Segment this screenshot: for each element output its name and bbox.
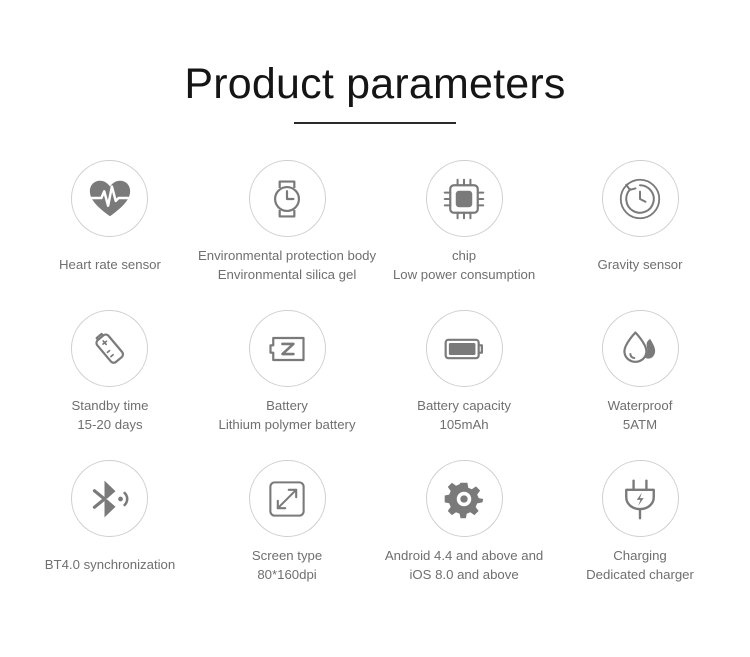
- feature-caption: Environmental protection body Environmen…: [198, 247, 376, 284]
- icon-circle: [426, 310, 503, 387]
- title-underline-rule: [294, 122, 456, 124]
- caption-line-1: chip: [452, 248, 476, 263]
- caption-line-2: Environmental silica gel: [198, 266, 376, 285]
- battery-z-icon: [265, 327, 309, 371]
- caption-line-1: Heart rate sensor: [59, 257, 161, 272]
- icon-circle: [71, 310, 148, 387]
- icon-circle: [249, 460, 326, 537]
- heart-rate-icon: [87, 176, 133, 222]
- caption-line-2: iOS 8.0 and above: [385, 566, 543, 585]
- feature-caption: chip Low power consumption: [393, 247, 535, 284]
- title-block: Product parameters: [0, 0, 750, 124]
- page-title: Product parameters: [0, 62, 750, 107]
- icon-circle: [426, 160, 503, 237]
- icon-circle: [71, 160, 148, 237]
- screen-resize-icon: [266, 478, 308, 520]
- feature-caption: Battery capacity 105mAh: [417, 397, 511, 434]
- charging-plug-icon: [618, 477, 662, 521]
- caption-line-1: Android 4.4 and above and: [385, 548, 543, 563]
- caption-line-1: Standby time: [71, 398, 148, 413]
- feature-item-charging: Charging Dedicated charger: [552, 460, 728, 610]
- feature-item-bluetooth: BT4.0 synchronization: [22, 460, 198, 610]
- caption-line-2: 5ATM: [608, 416, 673, 435]
- product-parameters-page: Product parameters Heart rate sensor: [0, 0, 750, 657]
- water-drop-icon: [618, 327, 662, 371]
- caption-line-1: Gravity sensor: [598, 257, 683, 272]
- feature-item-chip: chip Low power consumption: [376, 160, 552, 310]
- feature-caption: Battery Lithium polymer battery: [218, 397, 355, 434]
- feature-item-battery-type: Battery Lithium polymer battery: [198, 310, 376, 460]
- battery-tilted-icon: [88, 327, 132, 371]
- feature-caption: Heart rate sensor: [59, 256, 161, 275]
- icon-circle: [602, 460, 679, 537]
- feature-caption: Gravity sensor: [598, 256, 683, 275]
- feature-item-battery-capacity: Battery capacity 105mAh: [376, 310, 552, 460]
- gear-icon: [443, 478, 485, 520]
- icon-circle: [71, 460, 148, 537]
- caption-line-2: Lithium polymer battery: [218, 416, 355, 435]
- feature-caption: Standby time 15-20 days: [71, 397, 148, 434]
- caption-line-2: 80*160dpi: [252, 566, 322, 585]
- feature-item-heart-rate: Heart rate sensor: [22, 160, 198, 310]
- caption-line-1: Screen type: [252, 548, 322, 563]
- icon-circle: [602, 310, 679, 387]
- feature-item-gravity-sensor: Gravity sensor: [552, 160, 728, 310]
- feature-item-screen-type: Screen type 80*160dpi: [198, 460, 376, 610]
- feature-item-standby-time: Standby time 15-20 days: [22, 310, 198, 460]
- icon-circle: [249, 160, 326, 237]
- feature-caption: Screen type 80*160dpi: [252, 547, 322, 584]
- feature-item-environmental-body: Environmental protection body Environmen…: [198, 160, 376, 310]
- feature-caption: BT4.0 synchronization: [45, 556, 175, 575]
- gravity-sensor-icon: [618, 177, 662, 221]
- caption-line-1: Battery capacity: [417, 398, 511, 413]
- feature-grid: Heart rate sensor Environmental protecti…: [0, 160, 750, 610]
- chip-icon: [442, 177, 486, 221]
- icon-circle: [602, 160, 679, 237]
- caption-line-2: 15-20 days: [71, 416, 148, 435]
- feature-item-os-compatibility: Android 4.4 and above and iOS 8.0 and ab…: [376, 460, 552, 610]
- caption-line-2: Low power consumption: [393, 266, 535, 285]
- feature-item-waterproof: Waterproof 5ATM: [552, 310, 728, 460]
- caption-line-1: BT4.0 synchronization: [45, 557, 175, 572]
- feature-caption: Android 4.4 and above and iOS 8.0 and ab…: [385, 547, 543, 584]
- icon-circle: [426, 460, 503, 537]
- battery-full-icon: [442, 327, 486, 371]
- caption-line-1: Environmental protection body: [198, 248, 376, 263]
- caption-line-1: Battery: [266, 398, 308, 413]
- icon-circle: [249, 310, 326, 387]
- feature-caption: Waterproof 5ATM: [608, 397, 673, 434]
- caption-line-1: Waterproof: [608, 398, 673, 413]
- caption-line-2: Dedicated charger: [586, 566, 694, 585]
- bluetooth-icon: [88, 477, 132, 521]
- caption-line-1: Charging: [613, 548, 667, 563]
- feature-caption: Charging Dedicated charger: [586, 547, 694, 584]
- caption-line-2: 105mAh: [417, 416, 511, 435]
- watch-icon: [265, 177, 309, 221]
